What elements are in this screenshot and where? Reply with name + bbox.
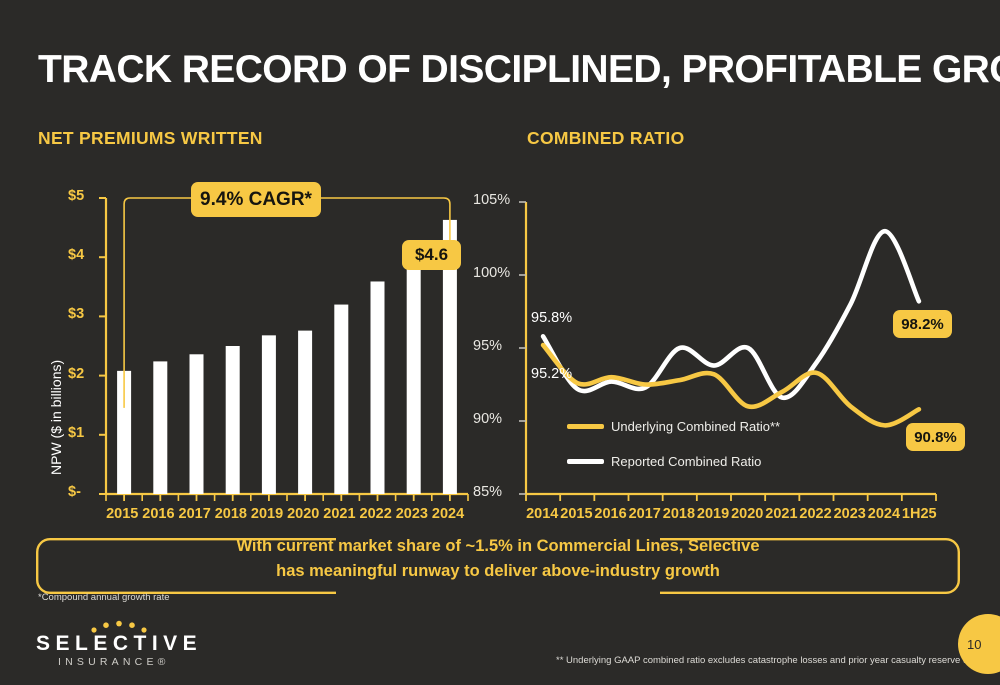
cr-ytick-1: 90% — [473, 411, 502, 427]
npw-xtick-9: 2024 — [432, 506, 464, 522]
bottom-callout-banner: With current market share of ~1.5% in Co… — [36, 538, 960, 594]
npw-xtick-2: 2017 — [179, 506, 211, 522]
cr-svg — [470, 175, 970, 525]
combined-ratio-line-chart — [470, 175, 970, 525]
npw-axis-label: NPW ($ in billions) — [48, 360, 64, 475]
cr-xtick-11: 1H25 — [902, 506, 937, 522]
npw-x-ticks — [106, 494, 468, 501]
cr-xtick-3: 2017 — [629, 506, 661, 522]
cr-xtick-10: 2024 — [868, 506, 900, 522]
npw-ytick-4: $4 — [68, 247, 84, 263]
footnote-gaap: ** Underlying GAAP combined ratio exclud… — [556, 655, 1000, 666]
footnote-cagr: *Compound annual growth rate — [38, 592, 170, 603]
page-title: TRACK RECORD OF DISCIPLINED, PROFITABLE … — [38, 48, 1000, 92]
npw-ytick-1: $1 — [68, 425, 84, 441]
npw-ytick-3: $3 — [68, 306, 84, 322]
banner-line-1: With current market share of ~1.5% in Co… — [36, 534, 960, 559]
cr-label-underlying-start: 95.2% — [531, 366, 572, 382]
cr-xtick-4: 2018 — [663, 506, 695, 522]
cr-ytick-0: 85% — [473, 484, 502, 500]
npw-xtick-6: 2021 — [323, 506, 355, 522]
cr-xtick-5: 2019 — [697, 506, 729, 522]
cr-ytick-2: 95% — [473, 338, 502, 354]
legend-item-underlying: Underlying Combined Ratio** — [567, 419, 780, 434]
legend-label-underlying: Underlying Combined Ratio** — [611, 419, 780, 434]
cr-reported-value-badge: 98.2% — [893, 310, 952, 338]
cr-ytick-4: 105% — [473, 192, 510, 208]
banner-line-2: has meaningful runway to deliver above-i… — [36, 559, 960, 584]
cr-xtick-9: 2023 — [834, 506, 866, 522]
logo-dots-icon — [88, 621, 150, 633]
section-heading-npw: NET PREMIUMS WRITTEN — [38, 128, 263, 149]
npw-svg — [30, 175, 480, 525]
banner-text: With current market share of ~1.5% in Co… — [36, 534, 960, 584]
npw-ytick-0: $- — [68, 484, 81, 500]
slide-root: TRACK RECORD OF DISCIPLINED, PROFITABLE … — [0, 0, 1000, 685]
legend-label-reported: Reported Combined Ratio — [611, 454, 761, 469]
cr-xtick-6: 2020 — [731, 506, 763, 522]
legend-swatch-underlying — [567, 424, 604, 429]
cr-line-reported — [543, 231, 919, 398]
npw-xtick-5: 2020 — [287, 506, 319, 522]
company-logo: SELECTIVE INSURANCE® — [36, 625, 236, 673]
cagr-badge: 9.4% CAGR* — [191, 182, 321, 217]
npw-xtick-8: 2023 — [396, 506, 428, 522]
npw-xtick-3: 2018 — [215, 506, 247, 522]
npw-ytick-2: $2 — [68, 366, 84, 382]
legend-item-reported: Reported Combined Ratio — [567, 454, 761, 469]
cr-xtick-7: 2021 — [765, 506, 797, 522]
npw-xtick-4: 2019 — [251, 506, 283, 522]
logo-secondary-text: INSURANCE® — [58, 655, 236, 669]
cr-label-reported-start: 95.8% — [531, 310, 572, 326]
legend-swatch-reported — [567, 459, 604, 464]
cr-xtick-1: 2015 — [560, 506, 592, 522]
page-number-text: 10 — [967, 637, 981, 652]
npw-last-value-badge: $4.6 — [402, 240, 461, 270]
cr-xtick-8: 2022 — [799, 506, 831, 522]
npw-xtick-1: 2016 — [142, 506, 174, 522]
npw-ytick-5: $5 — [68, 188, 84, 204]
logo-primary-text: SELECTIVE — [36, 633, 236, 655]
section-heading-combined-ratio: COMBINED RATIO — [527, 128, 684, 149]
npw-xtick-7: 2022 — [360, 506, 392, 522]
cr-ytick-3: 100% — [473, 265, 510, 281]
cagr-connector — [124, 198, 450, 408]
cr-underlying-value-badge: 90.8% — [906, 423, 965, 451]
cr-xtick-2: 2016 — [594, 506, 626, 522]
npw-bar-chart: NPW ($ in billions) — [30, 175, 480, 525]
cr-xtick-0: 2014 — [526, 506, 558, 522]
npw-xtick-0: 2015 — [106, 506, 138, 522]
